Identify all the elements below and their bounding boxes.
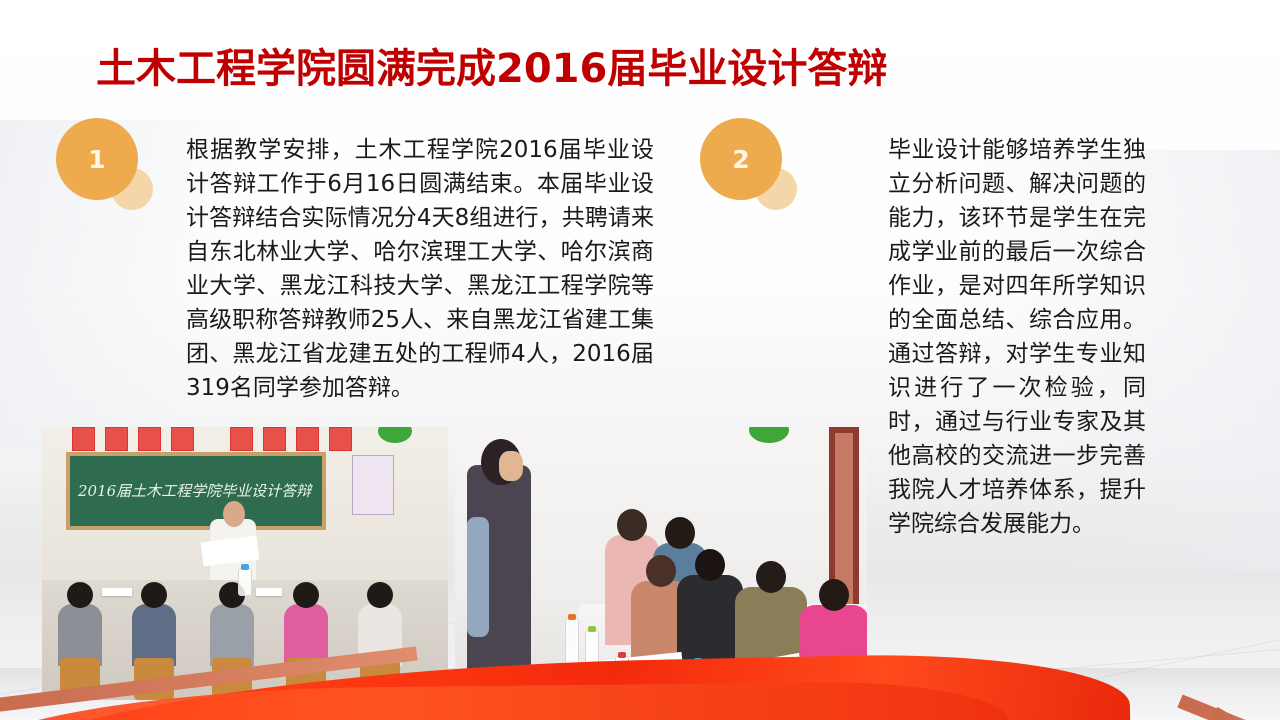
seated-student — [58, 604, 102, 666]
wall-banner-characters — [72, 427, 352, 449]
section-badge-1: 1 — [56, 118, 196, 228]
seated-student — [284, 604, 328, 666]
wall-poster — [352, 455, 394, 515]
denim-sleeve — [467, 517, 489, 637]
badge-number-1: 1 — [56, 118, 138, 200]
water-bottle — [565, 618, 579, 666]
desk-papers — [102, 588, 132, 596]
water-bottle — [238, 568, 252, 596]
seated-student — [210, 604, 254, 666]
presenting-student-face — [499, 451, 523, 481]
blackboard: 2016届土木工程学院毕业设计答辩 — [66, 452, 326, 530]
badge-number-2: 2 — [700, 118, 782, 200]
section-text-2: 毕业设计能够培养学生独立分析问题、解决问题的能力，该环节是学生在完成学业前的最后… — [888, 133, 1146, 541]
blackboard-text: 2016届土木工程学院毕业设计答辩 — [78, 480, 322, 504]
presentation-slide: 土木工程学院圆满完成2016届毕业设计答辩 1 根据教学安排，土木工程学院201… — [0, 0, 1280, 720]
seated-student — [132, 604, 176, 666]
section-text-1: 根据教学安排，土木工程学院2016届毕业设计答辩工作于6月16日圆满结束。本届毕… — [186, 133, 654, 405]
desk-papers — [256, 588, 282, 596]
section-badge-2: 2 — [698, 118, 848, 228]
page-title: 土木工程学院圆满完成2016届毕业设计答辩 — [96, 46, 1186, 92]
presenter-head — [223, 501, 245, 527]
